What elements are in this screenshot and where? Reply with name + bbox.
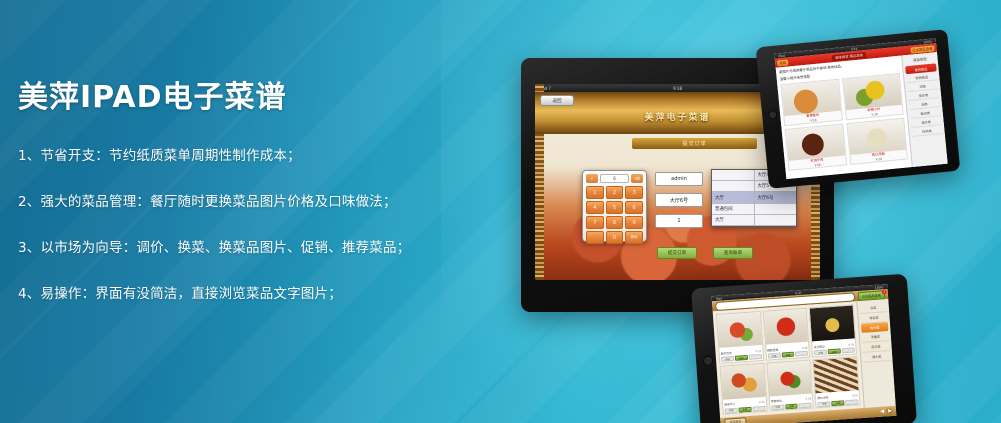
keypad-key-5[interactable]: 5 [606,201,624,214]
keypad-key-8[interactable]: 8 [606,216,624,229]
sidebar-item-drinks[interactable]: 酒水类 [863,351,891,363]
table-name-cell [755,215,797,225]
dish-grid: 西芹百合 ￥32 详情 点菜 － 糖醋里脊 ￥48 详情 [713,301,864,418]
dish-name: 提拉米苏 [817,395,828,400]
home-return-button[interactable]: 返回首页 [724,417,747,423]
keypad-key-1[interactable]: 1 [586,186,604,199]
bottom-right-tablet-device: iPad 9:41 100% 已点菜品查看 3 西芹百合 ￥32 [691,274,917,423]
dish-photo [721,363,766,399]
keypad-key-3[interactable]: 3 [625,186,643,199]
dish-order-button[interactable]: 点菜 [738,406,751,412]
dish-detail-button[interactable]: 详情 [814,349,827,355]
keypad-row: 7 8 9 [586,216,643,229]
numeric-keypad[interactable]: C 6 ⌫ 1 2 3 4 5 6 7 8 9 [582,170,647,242]
dish-actions: 详情 点菜 － [724,405,765,413]
keypad-clear-button[interactable]: C [586,174,598,183]
sidebar-item-beverage[interactable]: 饮料类 [911,125,943,137]
dish-photo [814,357,859,393]
dish-card[interactable]: 爽口凉面 ￥28 [846,118,908,165]
bottom-right-tablet-screen: iPad 9:41 100% 已点菜品查看 3 西芹百合 ￥32 [712,284,897,423]
table-row-selected[interactable]: 大厅 大厅6号 [712,192,796,203]
dish-name: 金沙南瓜 [814,344,825,349]
content-area: 西芹百合 ￥32 详情 点菜 － 糖醋里脊 ￥48 详情 [713,299,896,418]
dish-minus-button[interactable]: － [845,399,858,405]
dish-detail-button[interactable]: 详情 [771,404,784,410]
cart-label: 已点菜品查看 [862,292,881,298]
promo-banner: 美萍IPAD电子菜谱 1、节省开支：节约纸质菜单周期性制作成本； 2、强大的菜品… [0,0,1001,423]
sidebar-title: 菜品类型 [904,55,935,63]
dish-minus-button[interactable]: － [842,347,855,353]
dish-price: ￥34 [805,397,812,401]
dish-card[interactable]: 提拉米苏 ￥26 详情 点菜 － [813,356,861,408]
dish-name: 糖醋里脊 [767,347,778,352]
keypad-row: 4 5 6 [586,201,643,214]
order-form-fields: admin 大厅6号 1 [655,172,703,235]
dish-card[interactable]: 金沙南瓜 ￥36 详情 点菜 － [809,304,857,356]
dish-card[interactable]: 红烧牛肉 ￥68 [785,124,847,171]
keypad-row: . 0 删除 [586,231,643,244]
dish-grid-items: 香辣鱼块 ￥58 彩椒小炒 ￥38 红烧牛肉 ￥68 [780,73,908,171]
home-button[interactable] [703,355,714,366]
dish-photo [763,309,808,345]
table-area-cell: 大厅 [712,215,755,225]
cart-count-badge: 3 [882,289,887,294]
dish-actions: 详情 点菜 － [814,347,855,355]
table-name-cell [755,204,797,214]
table-area-cell [712,181,755,191]
operator-field[interactable]: admin [655,172,703,186]
dish-order-button[interactable]: 点菜 [828,348,841,354]
query-bill-button[interactable]: 查询账单 [713,247,753,259]
page-title: 美萍IPAD电子菜谱 [18,72,448,116]
keypad-key-4[interactable]: 4 [586,201,604,214]
table-area-cell [712,170,755,180]
table-name-cell: 大厅6号 [755,192,797,202]
dish-detail-button[interactable]: 详情 [724,407,737,413]
submit-order-button[interactable]: 提交订单 [657,247,697,259]
dish-card[interactable]: 宫保鸡丁 ￥42 详情 点菜 － [719,362,767,414]
dish-card[interactable]: 糖醋里脊 ￥48 详情 点菜 － [762,308,810,360]
keypad-key-6[interactable]: 6 [625,201,643,214]
dish-detail-button[interactable]: 详情 [721,356,734,362]
dish-detail-button[interactable]: 详情 [767,353,780,359]
dish-actions: 详情 点菜 － [771,402,812,410]
feature-bullet-1: 1、节省开支：节约纸质菜单周期性制作成本； [18,144,448,164]
feature-bullet-2: 2、强大的菜品管理：餐厅随时更换菜品图片价格及口味做法； [18,190,448,210]
table-area-cell: 普通包间 [712,204,755,214]
dish-minus-button[interactable]: － [749,354,762,360]
keypad-key-dot[interactable]: . [586,231,604,244]
keypad-backspace-icon[interactable]: ⌫ [631,174,643,183]
keypad-key-2[interactable]: 2 [606,186,624,199]
status-clock: 9:38 [673,86,682,91]
dish-price: ￥42 [758,400,765,404]
dish-price: ￥32 [755,348,762,352]
top-right-tablet-device: iPad 9:41 100% 返回 美味推荐 精品菜肴 已点菜品查看 美图片与视… [756,29,961,189]
dish-price: ￥48 [801,345,808,349]
keypad-display-row: C 6 ⌫ [586,174,643,183]
dish-order-button[interactable]: 点菜 [735,355,748,361]
dish-minus-button[interactable]: － [799,402,812,408]
dish-order-button[interactable]: 点菜 [785,403,798,409]
people-count-field[interactable]: 1 [655,214,703,228]
dish-minus-button[interactable]: － [752,405,765,411]
table-area-cell: 大厅 [712,192,755,202]
keypad-key-0[interactable]: 0 [606,231,624,244]
keypad-row: 1 2 3 [586,186,643,199]
home-button[interactable] [768,110,778,120]
dish-actions: 详情 点菜 － [818,399,859,407]
marketing-copy: 美萍IPAD电子菜谱 1、节省开支：节约纸质菜单周期性制作成本； 2、强大的菜品… [18,72,448,328]
dish-card[interactable]: 青椒肉丝 ￥34 详情 点菜 － [766,359,814,411]
dish-name: 西芹百合 [720,351,731,356]
dish-card[interactable]: 彩椒小炒 ￥38 [842,73,904,120]
subtitle-banner: 提交订单 [632,138,757,149]
category-sidebar: 凉菜 特色菜 热炒类 汤羹类 面点类 酒水类 [856,299,895,408]
dish-name: 宫保鸡丁 [724,402,735,407]
top-right-tablet-screen: iPad 9:41 100% 返回 美味推荐 精品菜肴 已点菜品查看 美图片与视… [774,38,947,179]
dish-order-button[interactable]: 点菜 [831,400,844,406]
keypad-display: 6 [600,174,629,183]
dish-actions: 详情 点菜 － [721,354,762,362]
table-field[interactable]: 大厅6号 [655,193,703,207]
table-row[interactable]: 大厅 [712,215,796,226]
dish-photo [767,360,812,396]
back-button[interactable]: 返回 [777,59,788,66]
next-page-arrow-icon[interactable]: ▶ [888,408,892,413]
back-button[interactable]: 返回 [540,95,574,106]
dish-price: ￥36 [848,342,855,346]
keypad-key-delete[interactable]: 删除 [625,231,643,244]
dish-order-button[interactable]: 点菜 [781,352,794,358]
feature-bullet-3: 3、以市场为向导：调价、换菜、换菜品图片、促销、推荐菜品； [18,236,448,256]
keypad-key-9[interactable]: 9 [625,216,643,229]
dish-grid: 美图片与视频餐厅菜品的不美味 美味佳品。 温馨小提示味觉搭配 香辣鱼块 ￥58 … [776,56,912,180]
dish-actions: 详情 点菜 － [767,351,808,359]
feature-bullet-4: 4、易操作：界面有没简洁，直接浏览菜品文字图片； [18,282,448,302]
keypad-key-7[interactable]: 7 [586,216,604,229]
dish-minus-button[interactable]: － [795,351,808,357]
dish-detail-button[interactable]: 详情 [818,401,831,407]
content-area: 美图片与视频餐厅菜品的不美味 美味佳品。 温馨小提示味觉搭配 香辣鱼块 ￥58 … [776,52,948,179]
table-row[interactable]: 普通包间 [712,204,796,215]
pagination-controls: ◀ ▶ [880,408,892,414]
dish-card[interactable]: 香辣鱼块 ￥58 [780,79,842,126]
dish-photo [717,312,762,348]
prev-page-arrow-icon[interactable]: ◀ [880,409,884,414]
dish-card[interactable]: 西芹百合 ￥32 详情 点菜 － [716,311,764,363]
dish-price: ￥26 [851,393,858,397]
dish-name: 青椒肉丝 [771,399,782,404]
dish-photo [810,305,855,341]
